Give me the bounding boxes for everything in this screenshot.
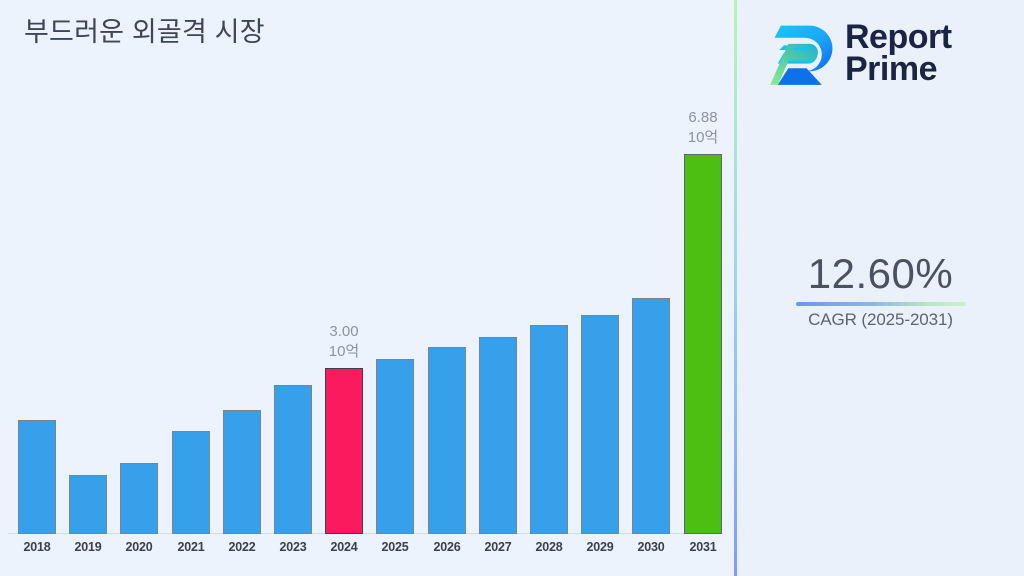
bar-chart-plot-area: 3.00 10억6.88 10억: [0, 120, 735, 534]
x-tick-2022: 2022: [223, 540, 261, 554]
bar-2031[interactable]: [684, 154, 722, 534]
bar-series: 3.00 10억6.88 10억: [0, 120, 735, 534]
bar-2022[interactable]: [223, 410, 261, 534]
bar-2027[interactable]: [479, 337, 517, 534]
logo-wordmark-line1: Report: [845, 21, 952, 53]
x-tick-2023: 2023: [274, 540, 312, 554]
x-tick-2029: 2029: [581, 540, 619, 554]
bar-2025[interactable]: [376, 359, 414, 534]
bar-value-label-2024: 3.00 10억: [307, 322, 381, 362]
bar-2026[interactable]: [428, 347, 466, 534]
x-tick-2024: 2024: [325, 540, 363, 554]
bar-value-label-2031: 6.88 10억: [666, 108, 740, 148]
bar-2029[interactable]: [581, 315, 619, 534]
cagr-value: 12.60%: [737, 252, 1024, 296]
bar-2028[interactable]: [530, 325, 568, 534]
cagr-divider-rule: [796, 302, 966, 306]
x-tick-2031: 2031: [684, 540, 722, 554]
x-tick-2019: 2019: [69, 540, 107, 554]
report-prime-logo-mark: [761, 15, 837, 91]
side-panel: Report Prime 12.60% CAGR (2025-2031): [737, 0, 1024, 576]
x-tick-2025: 2025: [376, 540, 414, 554]
x-tick-2028: 2028: [530, 540, 568, 554]
logo-wordmark-line2: Prime: [845, 53, 952, 85]
bar-2019[interactable]: [69, 475, 107, 534]
logo-wordmark: Report Prime: [845, 21, 952, 86]
x-tick-2030: 2030: [632, 540, 670, 554]
bar-2024[interactable]: [325, 368, 363, 534]
cagr-caption: CAGR (2025-2031): [737, 310, 1024, 330]
page-title: 부드러운 외골격 시장: [24, 10, 265, 49]
x-tick-2026: 2026: [428, 540, 466, 554]
x-tick-2027: 2027: [479, 540, 517, 554]
bar-2023[interactable]: [274, 385, 312, 534]
bar-2030[interactable]: [632, 298, 670, 534]
report-prime-logo: Report Prime: [761, 10, 1011, 96]
x-tick-2018: 2018: [18, 540, 56, 554]
x-axis-tick-labels: 2018201920202021202220232024202520262027…: [0, 540, 735, 564]
bar-2020[interactable]: [120, 463, 158, 534]
chart-panel: 부드러운 외골격 시장 3.00 10억6.88 10억 20182019202…: [0, 0, 735, 576]
x-tick-2020: 2020: [120, 540, 158, 554]
bar-2021[interactable]: [172, 431, 210, 534]
cagr-block: 12.60% CAGR (2025-2031): [737, 252, 1024, 330]
x-tick-2021: 2021: [172, 540, 210, 554]
bar-2018[interactable]: [18, 420, 56, 534]
